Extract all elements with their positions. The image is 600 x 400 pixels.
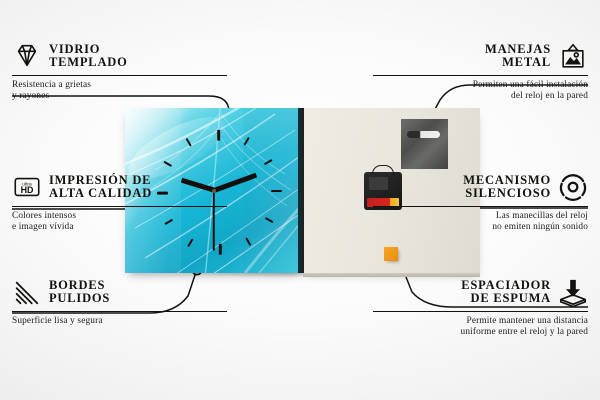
metal-hanger-plate — [401, 119, 448, 169]
feature-description: Colores intensos e imagen vívida — [12, 211, 227, 233]
feature-title: MECANISMO SILENCIOSO — [463, 174, 551, 201]
feature-mecanismo-silencioso: MECANISMO SILENCIOSO Las manecillas del … — [373, 172, 588, 233]
feature-title: MANEJAS METAL — [485, 43, 551, 70]
feature-vidrio-templado: VIDRIO TEMPLADO Resistencia a grietas y … — [12, 41, 227, 102]
feature-divider — [373, 75, 588, 76]
feature-impresion-alta-calidad: ultra HD IMPRESIÓN DE ALTA CALIDAD Color… — [12, 172, 227, 233]
polished-edges-icon — [12, 277, 42, 307]
hanger-slot — [407, 131, 440, 138]
feature-divider — [373, 206, 588, 207]
panel-seam — [298, 108, 304, 273]
gear-icon — [558, 172, 588, 202]
diamond-icon — [12, 41, 42, 71]
picture-frame-hanger-icon — [558, 41, 588, 71]
feature-header: MECANISMO SILENCIOSO — [373, 172, 588, 202]
feature-description: Permite mantener una distancia uniforme … — [373, 316, 588, 338]
feature-header: ultra HD IMPRESIÓN DE ALTA CALIDAD — [12, 172, 227, 202]
feature-title: ESPACIADOR DE ESPUMA — [461, 279, 551, 306]
feature-divider — [12, 75, 227, 76]
feature-manejas-metal: MANEJAS METAL Permiten una fácil instala… — [373, 41, 588, 102]
feature-description: Superficie lisa y segura — [12, 316, 227, 327]
feature-description: Las manecillas del reloj no emiten ningú… — [373, 211, 588, 233]
feature-header: MANEJAS METAL — [373, 41, 588, 71]
clock-tick — [271, 190, 282, 193]
svg-text:HD: HD — [21, 185, 34, 195]
feature-description: Resistencia a grietas y rayones — [12, 80, 227, 102]
arrow-down-pad-icon — [558, 277, 588, 307]
ultra-hd-icon: ultra HD — [12, 172, 42, 202]
feature-header: ESPACIADOR DE ESPUMA — [373, 277, 588, 307]
feature-description: Permiten una fácil instalación del reloj… — [373, 80, 588, 102]
clock-tick — [217, 129, 220, 140]
foam-spacer — [384, 247, 398, 261]
feature-divider — [12, 311, 227, 312]
clock-tick — [219, 243, 222, 254]
infographic-canvas: VIDRIO TEMPLADO Resistencia a grietas y … — [0, 0, 600, 400]
feature-title: IMPRESIÓN DE ALTA CALIDAD — [49, 174, 152, 201]
feature-divider — [12, 206, 227, 207]
feature-bordes-pulidos: BORDES PULIDOS Superficie lisa y segura — [12, 277, 227, 327]
feature-header: VIDRIO TEMPLADO — [12, 41, 227, 71]
feature-title: VIDRIO TEMPLADO — [49, 43, 128, 70]
feature-title: BORDES PULIDOS — [49, 279, 110, 306]
feature-divider — [373, 311, 588, 312]
feature-header: BORDES PULIDOS — [12, 277, 227, 307]
feature-espaciador-de-espuma: ESPACIADOR DE ESPUMA Permite mantener un… — [373, 277, 588, 338]
